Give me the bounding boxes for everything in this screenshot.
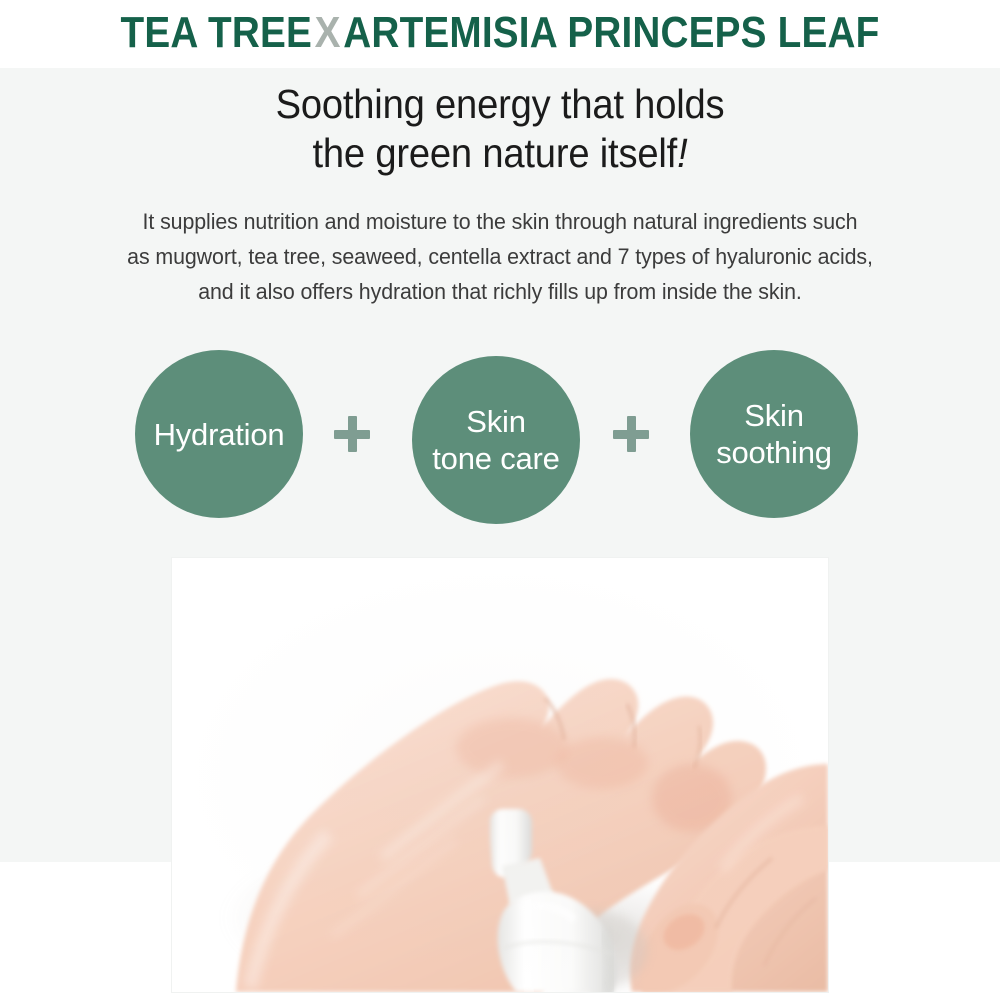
benefit-label-skin-soothing-line-2: soothing: [716, 435, 832, 470]
product-detail-page: TEA TREEXARTEMISIA PRINCEPS LEAF Soothin…: [0, 0, 1000, 1000]
subheading-exclamation: !: [677, 130, 687, 176]
subheading-line-1: Soothing energy that holds: [276, 81, 725, 127]
page-title: TEA TREEXARTEMISIA PRINCEPS LEAF: [60, 8, 940, 58]
benefit-label-hydration: Hydration: [152, 416, 287, 453]
plus-icon-1: [334, 416, 370, 452]
subheading: Soothing energy that holds the green nat…: [35, 80, 965, 178]
title-part-2: ARTEMISIA PRINCEPS LEAF: [343, 8, 879, 57]
benefit-circle-skin-soothing: Skin soothing: [690, 350, 858, 518]
benefit-label-skin-soothing-line-1: Skin: [744, 398, 804, 433]
description-line-1: It supplies nutrition and moisture to th…: [58, 204, 942, 239]
description-line-3: and it also offers hydration that richly…: [58, 274, 942, 309]
subheading-line-2: the green nature itself!: [35, 129, 965, 178]
benefit-label-skin-tone-care-line-1: Skin: [466, 404, 526, 439]
benefit-circle-skin-tone-care: Skin tone care: [412, 356, 580, 524]
benefits-row: Hydration Skin tone care Skin soothing: [0, 350, 1000, 520]
product-application-photo: [172, 558, 828, 992]
benefit-circle-hydration: Hydration: [135, 350, 303, 518]
title-cross-separator: X: [312, 8, 343, 57]
benefit-label-skin-tone-care-line-2: tone care: [432, 441, 559, 476]
photo-illustration: [172, 558, 828, 992]
description-line-2: as mugwort, tea tree, seaweed, centella …: [58, 239, 942, 274]
benefit-label-skin-tone-care: Skin tone care: [430, 403, 561, 477]
plus-icon-2: [613, 416, 649, 452]
subheading-line-2-text: the green nature itself: [313, 130, 678, 176]
description-paragraph: It supplies nutrition and moisture to th…: [58, 204, 942, 309]
title-part-1: TEA TREE: [121, 8, 312, 57]
benefit-label-skin-soothing: Skin soothing: [714, 397, 834, 471]
